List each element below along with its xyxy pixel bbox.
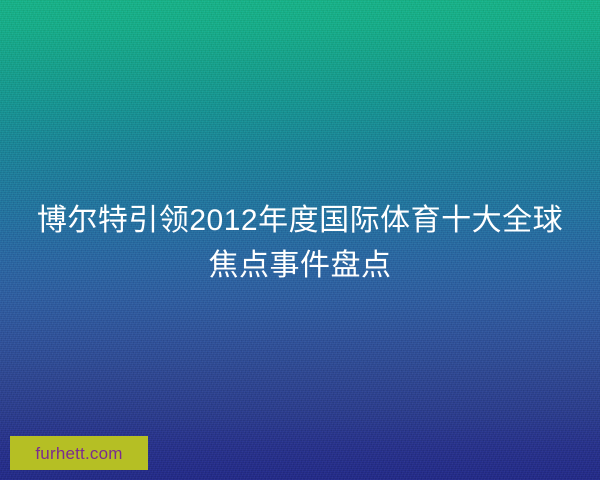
- title-card: 博尔特引领2012年度国际体育十大全球 焦点事件盘点 furhett.com: [0, 0, 600, 480]
- page-title: 博尔特引领2012年度国际体育十大全球 焦点事件盘点: [0, 198, 600, 288]
- title-line-1: 博尔特引领2012年度国际体育十大全球: [28, 198, 572, 243]
- watermark-badge: furhett.com: [10, 436, 148, 470]
- title-line-2: 焦点事件盘点: [28, 243, 572, 288]
- watermark-label: furhett.com: [35, 445, 122, 462]
